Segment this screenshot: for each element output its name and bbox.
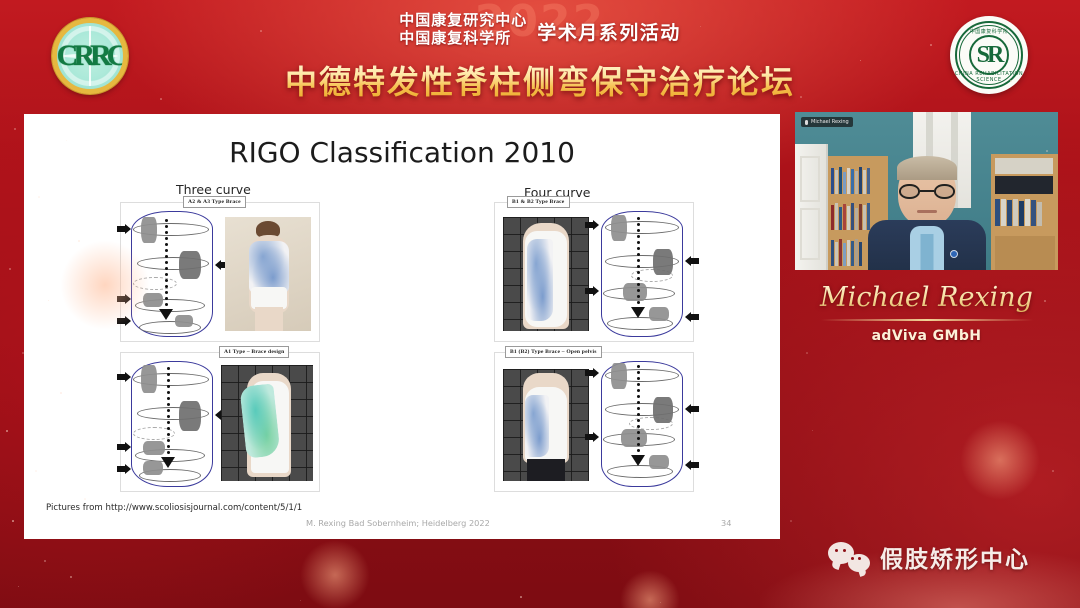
event-header: CRRC 2022 中国康复研究中心 中国康复科学所 学术月系列活动 中德特发性…: [0, 0, 1080, 112]
door: [795, 144, 828, 270]
spine-curve-dots: [167, 367, 170, 463]
panel-label-b1b2: B1 & B2 Type Brace: [507, 196, 570, 208]
pressure-pad: [179, 401, 201, 431]
lapel-pin: [950, 250, 958, 258]
background-particle: [44, 560, 46, 562]
slide-footer-text: M. Rexing Bad Sobernheim; Heidelberg 202…: [306, 518, 490, 528]
force-arrow: [685, 257, 699, 265]
background-glow-dot: [620, 570, 680, 608]
background-particle: [806, 352, 808, 354]
speaker-hair: [897, 156, 957, 180]
pelvis-marker: [159, 309, 173, 320]
force-arrow: [585, 433, 599, 441]
force-arrow: [685, 405, 699, 413]
background-particle: [1052, 470, 1054, 472]
panel-label-open-pelvis: B1 (B2) Type Brace – Open pelvis: [505, 346, 602, 358]
wechat-icon: [828, 542, 870, 572]
pressure-pad: [143, 441, 165, 455]
glasses: [899, 184, 955, 199]
pressure-pad: [179, 251, 201, 279]
brace-lower: [251, 287, 287, 309]
brace-panel-b1b2-open-pelvis: B1 (B2) Type Brace – Open pelvis: [494, 352, 694, 492]
logo-arc-text-bottom: CHINA REHABILITATION SCIENCE: [950, 71, 1028, 83]
background-particle: [18, 586, 19, 587]
organizer-names: 中国康复研究中心 中国康复科学所: [399, 12, 527, 47]
speaker-organization: adViva GMbH: [795, 328, 1058, 344]
brace-panel-b1b2: B1 & B2 Type Brace: [494, 202, 694, 342]
background-particle: [790, 520, 792, 522]
patient-photo-b1b2: [503, 217, 589, 331]
speaker-mouth: [917, 210, 937, 213]
force-arrow: [117, 443, 131, 451]
wechat-account-name: 假肢矫形中心: [880, 540, 1030, 574]
brace-schematic-open-pelvis: [601, 361, 683, 487]
pelvis-marker: [631, 455, 645, 466]
patient-photo-a1: [221, 365, 313, 481]
video-name-label: Michael Rexing: [801, 117, 853, 127]
patient-photo-a2a3: [225, 217, 311, 331]
patient-legs: [255, 307, 283, 331]
force-arrow: [117, 225, 131, 233]
brace-garment: [249, 241, 289, 293]
force-arrow: [585, 369, 599, 377]
pressure-pad: [649, 307, 669, 321]
spine-curve-dots: [637, 365, 640, 461]
presentation-stage: CRRC 2022 中国康复研究中心 中国康复科学所 学术月系列活动 中德特发性…: [0, 0, 1080, 608]
speaker-blazer: [868, 220, 986, 270]
background-particle: [6, 430, 8, 432]
pressure-pad: [621, 429, 647, 447]
force-arrow: [117, 465, 131, 473]
pressure-pad: [611, 215, 627, 241]
activity-series-label: 学术月系列活动: [537, 18, 681, 45]
pressure-pad: [653, 249, 673, 275]
background-glow-dot: [60, 240, 150, 330]
pelvis-marker: [161, 457, 175, 468]
force-arrow: [585, 221, 599, 229]
force-arrow: [117, 373, 131, 381]
pressure-pad: [141, 217, 157, 243]
pressure-pad: [175, 315, 193, 327]
pressure-pad: [623, 283, 647, 301]
brace-garment: [527, 239, 553, 321]
background-particle: [14, 128, 16, 130]
organizer-line-1: 中国康复研究中心: [399, 12, 527, 30]
speaker-person: [868, 158, 986, 270]
background-particle: [70, 576, 72, 578]
brace-garment: [525, 395, 549, 457]
slide-source-credit: Pictures from http://www.scoliosisjourna…: [46, 503, 302, 513]
glasses-lens-left: [899, 184, 920, 199]
speaker-info-block: Michael Rexing adViva GMbH: [795, 282, 1058, 344]
shelf-items: [995, 158, 1053, 174]
speaker-collar: [920, 234, 933, 270]
background-glow-dot: [300, 540, 370, 608]
force-arrow: [685, 461, 699, 469]
glasses-bridge: [920, 190, 934, 192]
force-arrow: [585, 287, 599, 295]
brace-schematic-b1b2: [601, 211, 683, 337]
background-particle: [520, 596, 522, 598]
background-particle: [12, 520, 14, 522]
slide-area: RIGO Classification 2010 Three curve Fou…: [24, 114, 780, 539]
pressure-pad: [141, 365, 157, 393]
speaker-video-feed[interactable]: Michael Rexing: [795, 112, 1058, 270]
forum-title: 中德特发性脊柱侧弯保守治疗论坛: [0, 57, 1080, 103]
background-particle: [300, 600, 301, 601]
column-header-three-curve: Three curve: [176, 182, 251, 197]
pressure-pad: [653, 397, 673, 423]
panel-label-a1: A1 Type – Brace design: [219, 346, 289, 358]
brace-panel-a1: A1 Type – Brace design: [120, 352, 320, 492]
spine-curve-dots: [637, 217, 640, 313]
pressure-pad: [143, 461, 163, 475]
brace-schematic-a1: [131, 361, 213, 487]
force-arrow: [685, 313, 699, 321]
decorative-divider: [821, 319, 1033, 321]
video-name-label-text: Michael Rexing: [811, 119, 849, 125]
panel-label-a2a3: A2 & A3 Type Brace: [183, 196, 246, 208]
microphone-icon: [805, 120, 808, 125]
glasses-lens-right: [934, 184, 955, 199]
speaker-name: Michael Rexing: [795, 282, 1058, 313]
pressure-pad: [611, 363, 627, 389]
wechat-account-footer: 假肢矫形中心: [828, 540, 1030, 574]
shelf-items: [995, 176, 1053, 194]
background-particle: [812, 430, 813, 431]
pelvis-marker: [631, 307, 645, 318]
background-particle: [9, 268, 11, 270]
binders-row: [995, 198, 1053, 226]
rehabilitation-science-logo: 中国康复科学所 SR CHINA REHABILITATION SCIENCE: [950, 16, 1028, 94]
slide-title: RIGO Classification 2010: [24, 136, 780, 169]
patient-lower-body: [527, 459, 565, 481]
background-glow-dot: [960, 420, 1040, 500]
desk: [995, 236, 1055, 270]
patient-photo-open-pelvis: [503, 369, 589, 481]
header-subtitle-row: 中国康复研究中心 中国康复科学所 学术月系列活动: [0, 12, 1080, 47]
spine-curve-dots: [165, 219, 168, 315]
pressure-pad: [649, 455, 669, 469]
brace-panel-a2a3: A2 & A3 Type Brace: [120, 202, 320, 342]
slide-page-number: 34: [721, 518, 731, 528]
organizer-line-2: 中国康复科学所: [399, 30, 527, 48]
